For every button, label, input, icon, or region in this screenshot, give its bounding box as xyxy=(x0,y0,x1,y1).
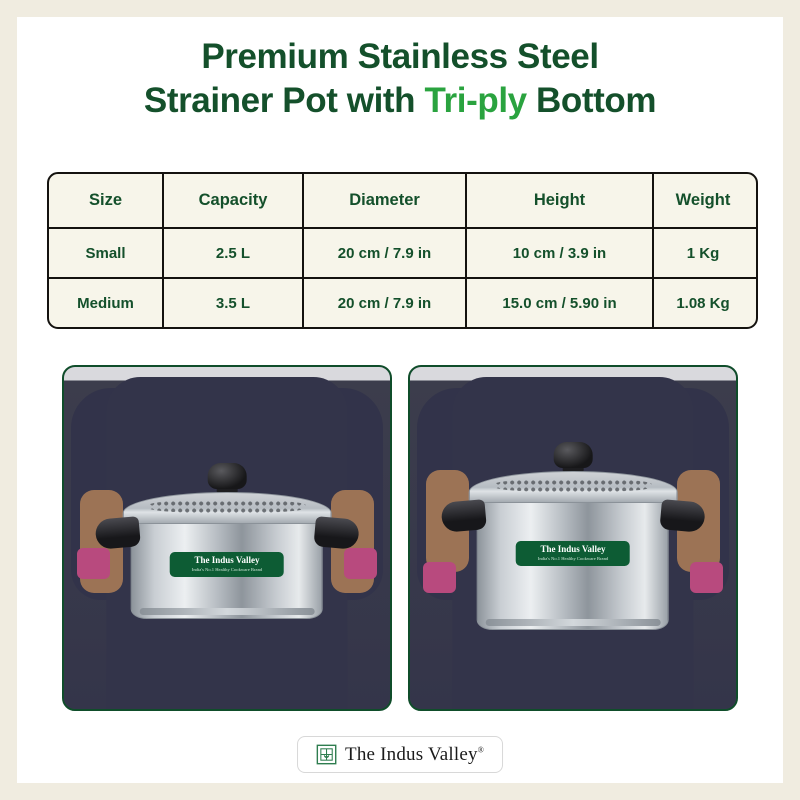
table-row: Small 2.5 L 20 cm / 7.9 in 10 cm / 3.9 i… xyxy=(49,227,756,277)
pot-assembly-medium: The Indus Valley India's No.1 Healthy Co… xyxy=(469,442,678,630)
pot-base-ring xyxy=(140,608,315,615)
title-line-2-part2: Bottom xyxy=(527,81,656,120)
table-header-row: Size Capacity Diameter Height Weight xyxy=(49,174,756,227)
model-sleeve-left xyxy=(423,562,456,593)
strainer-holes xyxy=(148,500,305,513)
product-photo-gallery: The Indus Valley India's No.1 Healthy Co… xyxy=(62,365,738,707)
pot-handle-right xyxy=(659,499,705,533)
product-photo-medium: The Indus Valley India's No.1 Healthy Co… xyxy=(408,365,738,711)
pot-handle-left xyxy=(95,516,141,550)
sticker-tagline: India's No.1 Healthy Cookware Brand xyxy=(170,566,284,573)
cell-weight: 1 Kg xyxy=(652,229,752,277)
title-line-2-part1: Strainer Pot with xyxy=(144,81,425,120)
cell-height: 15.0 cm / 5.90 in xyxy=(465,279,652,327)
brand-sticker: The Indus Valley India's No.1 Healthy Co… xyxy=(170,552,284,577)
table-header-size: Size xyxy=(49,174,162,227)
title-accent-triply: Tri-ply xyxy=(425,81,527,120)
sticker-brand-name: The Indus Valley xyxy=(516,544,630,555)
lid-knob-icon xyxy=(207,463,247,489)
cell-size: Small xyxy=(49,229,162,277)
pot-base-ring xyxy=(486,619,661,626)
page-title: Premium Stainless Steel Strainer Pot wit… xyxy=(17,35,783,123)
lid-knob-icon xyxy=(553,442,593,468)
registered-mark: ® xyxy=(478,745,484,754)
pot-handle-left xyxy=(441,499,487,533)
title-line-2: Strainer Pot with Tri-ply Bottom xyxy=(17,79,783,123)
pot-body: The Indus Valley India's No.1 Healthy Co… xyxy=(477,502,669,630)
cell-weight: 1.08 Kg xyxy=(652,279,752,327)
pot-body: The Indus Valley India's No.1 Healthy Co… xyxy=(131,523,323,619)
title-line-1: Premium Stainless Steel xyxy=(17,35,783,79)
pot-assembly-small: The Indus Valley India's No.1 Healthy Co… xyxy=(123,463,332,619)
model-sleeve-right xyxy=(344,548,377,579)
pot-handle-right xyxy=(313,516,359,550)
model-sleeve-left xyxy=(77,548,110,579)
brand-sticker: The Indus Valley India's No.1 Healthy Co… xyxy=(516,541,630,566)
table-header-diameter: Diameter xyxy=(302,174,465,227)
cell-diameter: 20 cm / 7.9 in xyxy=(302,279,465,327)
table-row: Medium 3.5 L 20 cm / 7.9 in 15.0 cm / 5.… xyxy=(49,277,756,327)
product-photo-small: The Indus Valley India's No.1 Healthy Co… xyxy=(62,365,392,711)
table-header-capacity: Capacity xyxy=(162,174,302,227)
strainer-holes xyxy=(494,479,651,492)
table-header-weight: Weight xyxy=(652,174,752,227)
brand-name: The Indus Valley xyxy=(345,744,478,765)
specification-table: Size Capacity Diameter Height Weight Sma… xyxy=(47,172,758,329)
cell-size: Medium xyxy=(49,279,162,327)
cell-height: 10 cm / 3.9 in xyxy=(465,229,652,277)
strainer-lid xyxy=(469,471,678,505)
sticker-brand-name: The Indus Valley xyxy=(170,555,284,566)
cell-diameter: 20 cm / 7.9 in xyxy=(302,229,465,277)
strainer-lid xyxy=(123,492,332,526)
sticker-tagline: India's No.1 Healthy Cookware Brand xyxy=(516,555,630,562)
brand-logo-text: The Indus Valley® xyxy=(345,744,484,766)
cell-capacity: 3.5 L xyxy=(162,279,302,327)
cell-capacity: 2.5 L xyxy=(162,229,302,277)
infographic-canvas: Premium Stainless Steel Strainer Pot wit… xyxy=(17,17,783,783)
table-header-height: Height xyxy=(465,174,652,227)
indus-valley-emblem-icon xyxy=(316,744,337,765)
model-sleeve-right xyxy=(690,562,723,593)
brand-logo: The Indus Valley® xyxy=(297,736,503,773)
